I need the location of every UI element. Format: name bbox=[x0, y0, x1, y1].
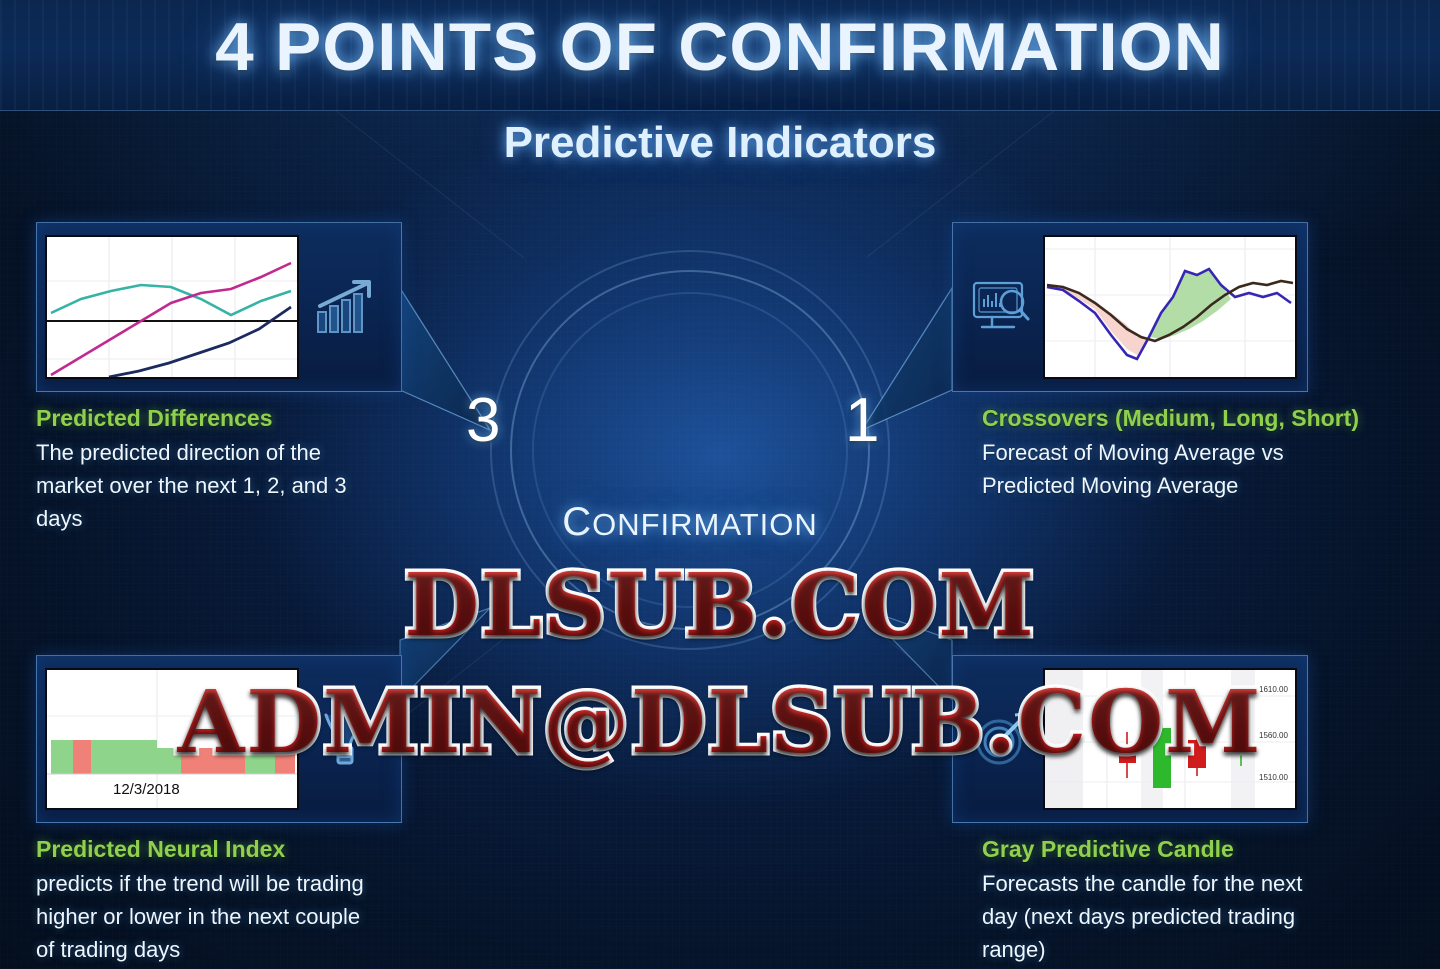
watermark-domain-text: DLSUB.COM bbox=[0, 555, 1440, 656]
panel-predicted-differences[interactable]: Predicted Differences The predicted dire… bbox=[36, 222, 402, 535]
panel-predicted-neural-index-description: predicts if the trend will be trading hi… bbox=[36, 867, 381, 966]
panel-crossovers-title: Crossovers (Medium, Long, Short) bbox=[982, 405, 1308, 432]
neural-index-date-label: 12/3/2018 bbox=[113, 781, 180, 798]
step-number-1: 1 bbox=[845, 385, 879, 456]
panel-crossovers-description: Forecast of Moving Average vs Predicted … bbox=[982, 436, 1308, 502]
page-title: 4 POINTS OF CONFIRMATION bbox=[0, 8, 1440, 86]
panel-predicted-differences-frame bbox=[36, 222, 402, 392]
step-number-3: 3 bbox=[466, 385, 500, 456]
panel-crossovers-caption: Crossovers (Medium, Long, Short) Forecas… bbox=[982, 405, 1308, 502]
panel-gray-predictive-candle-description: Forecasts the candle for the next day (n… bbox=[982, 867, 1308, 966]
panel-crossovers-frame bbox=[952, 222, 1308, 392]
candle-price-label-3: 1510.00 bbox=[1259, 773, 1288, 782]
watermark-email: ADMIN@DLSUB.COMADMIN@DLSUB.COM bbox=[0, 672, 1440, 773]
predicted-differences-chart bbox=[45, 235, 299, 379]
panel-predicted-differences-title: Predicted Differences bbox=[36, 405, 402, 432]
watermark-domain: DLSUB.COMDLSUB.COM bbox=[0, 555, 1440, 656]
confirmation-label-rest: ONFIRMATION bbox=[592, 507, 818, 542]
page-subtitle: Predictive Indicators bbox=[0, 118, 1440, 168]
panel-gray-predictive-candle-title: Gray Predictive Candle bbox=[982, 836, 1308, 863]
panel-gray-predictive-candle-caption: Gray Predictive Candle Forecasts the can… bbox=[982, 836, 1308, 966]
panel-predicted-differences-caption: Predicted Differences The predicted dire… bbox=[36, 405, 402, 535]
panel-predicted-neural-index-title: Predicted Neural Index bbox=[36, 836, 402, 863]
panel-crossovers[interactable]: Crossovers (Medium, Long, Short) Forecas… bbox=[952, 222, 1308, 502]
slide-canvas: 4 POINTS OF CONFIRMATION Predictive Indi… bbox=[0, 0, 1440, 969]
panel-predicted-differences-description: The predicted direction of the market ov… bbox=[36, 436, 356, 535]
panel-predicted-neural-index-caption: Predicted Neural Index predicts if the t… bbox=[36, 836, 402, 966]
bar-chart-growth-icon bbox=[299, 278, 391, 336]
confirmation-label: CONFIRMATION bbox=[420, 500, 960, 545]
confirmation-label-cap: C bbox=[562, 500, 592, 544]
monitor-analytics-icon bbox=[961, 279, 1043, 335]
crossovers-chart bbox=[1043, 235, 1297, 379]
watermark-email-text: ADMIN@DLSUB.COM bbox=[0, 672, 1440, 773]
